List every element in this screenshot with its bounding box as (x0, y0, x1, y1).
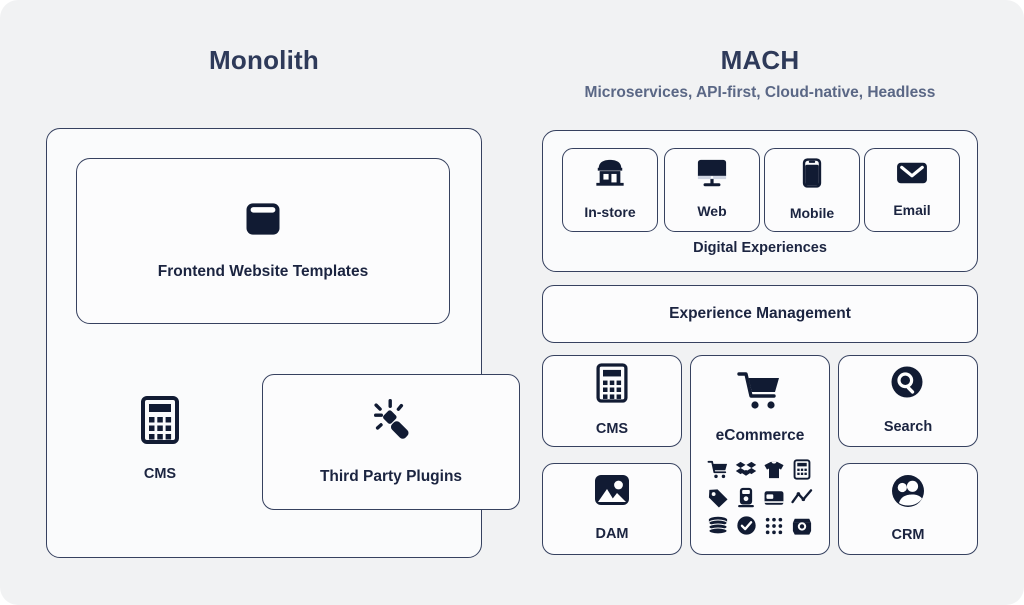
digital-experience-label: Web (697, 201, 726, 223)
database-icon (707, 516, 729, 541)
digital-experience-web-card[interactable]: Web (664, 148, 760, 232)
monolith-title: Monolith (48, 45, 480, 76)
magic-wand-icon (366, 394, 416, 449)
frontend-website-templates-card[interactable]: Frontend Website Templates (76, 158, 450, 324)
smartphone-icon (801, 156, 823, 195)
credit-card-icon (763, 489, 785, 512)
experience-management-label: Experience Management (669, 302, 851, 326)
service-search-card[interactable]: Search (838, 355, 978, 447)
digital-experience-in-store-card[interactable]: In-store (562, 148, 658, 232)
payment-terminal-icon (737, 487, 755, 513)
monolith-cms-item[interactable]: CMS (112, 395, 208, 485)
monolith-cms-label: CMS (144, 463, 176, 485)
service-dam-card[interactable]: DAM (542, 463, 682, 555)
package-gear-icon (791, 516, 813, 541)
image-icon (592, 473, 632, 514)
calculator-icon (594, 362, 630, 409)
storefront-icon (593, 157, 627, 194)
boxes-icon (735, 460, 757, 485)
envelope-icon (895, 159, 929, 192)
mach-title: MACH (542, 45, 978, 76)
digital-experience-label: Email (893, 200, 930, 222)
infographic-root: Monolith MACH Microservices, API-first, … (0, 0, 1024, 605)
magnifier-icon (889, 364, 927, 407)
digital-experience-label: Mobile (790, 203, 834, 225)
calculator-icon (138, 395, 182, 450)
frontend-card-label: Frontend Website Templates (158, 260, 368, 284)
mach-subtitle: Microservices, API-first, Cloud-native, … (542, 84, 978, 102)
chart-line-icon (791, 489, 813, 512)
price-tag-icon (707, 488, 729, 513)
service-label: DAM (595, 523, 628, 545)
dots-grid-icon (764, 516, 784, 541)
digital-experience-email-card[interactable]: Email (864, 148, 960, 232)
service-label: Search (884, 416, 932, 438)
calculator-icon (792, 459, 812, 485)
digital-experience-label: In-store (584, 202, 635, 224)
digital-experiences-panel-label: Digital Experiences (542, 240, 978, 256)
third-party-plugins-label: Third Party Plugins (320, 465, 462, 489)
users-circle-icon (889, 472, 927, 515)
service-label: CMS (596, 418, 628, 440)
service-ecommerce-card[interactable]: eCommerce (690, 355, 830, 555)
ecommerce-icon-grid (705, 460, 815, 540)
experience-management-bar[interactable]: Experience Management (542, 285, 978, 343)
check-circle-icon (736, 515, 757, 541)
tshirt-icon (763, 460, 785, 485)
service-label: CRM (891, 524, 924, 546)
digital-experience-mobile-card[interactable]: Mobile (764, 148, 860, 232)
service-cms-card[interactable]: CMS (542, 355, 682, 447)
third-party-plugins-card[interactable]: Third Party Plugins (262, 374, 520, 510)
shopping-cart-icon (736, 370, 784, 417)
ecommerce-label: eCommerce (716, 424, 805, 448)
window-icon (241, 197, 285, 246)
service-crm-card[interactable]: CRM (838, 463, 978, 555)
monitor-icon (695, 157, 729, 193)
shopping-cart-icon (707, 460, 729, 485)
